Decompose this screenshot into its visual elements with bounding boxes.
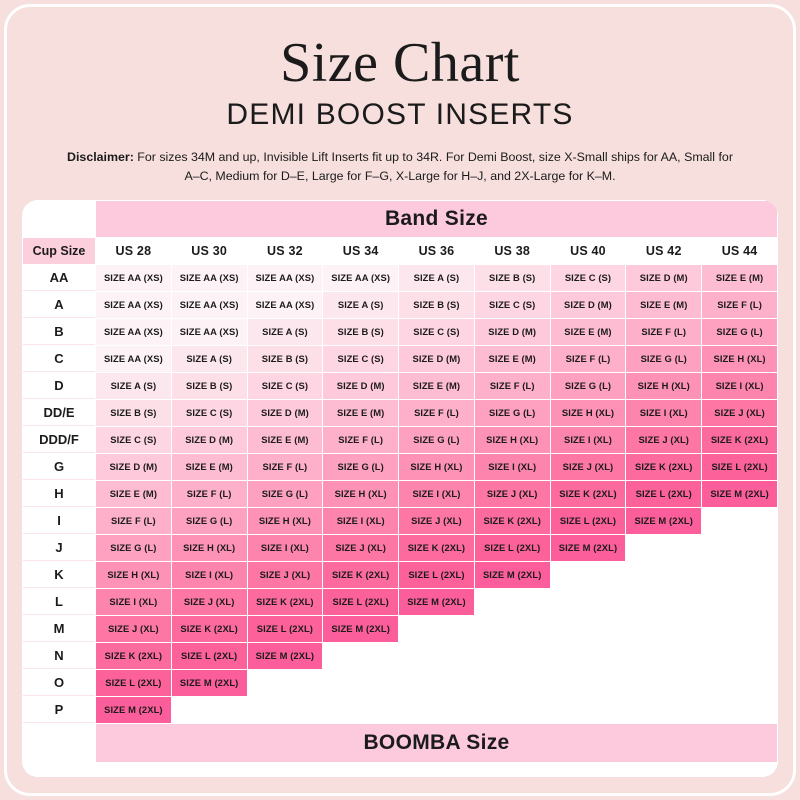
size-cell: SIZE D (M) [172, 427, 247, 453]
size-cell-empty [551, 589, 626, 615]
size-cell-empty [702, 697, 777, 723]
size-cell-empty [475, 589, 550, 615]
size-cell: SIZE C (S) [248, 373, 323, 399]
size-cell-empty [399, 616, 474, 642]
size-cell: SIZE J (XL) [172, 589, 247, 615]
size-cell: SIZE J (XL) [248, 562, 323, 588]
band-size-header: US 44 [702, 238, 777, 264]
size-cell: SIZE C (S) [323, 346, 398, 372]
size-cell: SIZE H (XL) [475, 427, 550, 453]
table-row: ISIZE F (L)SIZE G (L)SIZE H (XL)SIZE I (… [23, 508, 777, 534]
size-cell: SIZE E (M) [172, 454, 247, 480]
size-cell-empty [626, 670, 701, 696]
disclaimer-text: For sizes 34M and up, Invisible Lift Ins… [134, 150, 733, 183]
table-row: DDD/FSIZE C (S)SIZE D (M)SIZE E (M)SIZE … [23, 427, 777, 453]
size-cell: SIZE I (XL) [626, 400, 701, 426]
size-cell: SIZE H (XL) [626, 373, 701, 399]
cup-size-label: H [23, 481, 95, 507]
cup-size-label: N [23, 643, 95, 669]
size-cell-empty [626, 562, 701, 588]
size-cell: SIZE B (S) [475, 265, 550, 291]
band-size-header: US 38 [475, 238, 550, 264]
table-row: OSIZE L (2XL)SIZE M (2XL) [23, 670, 777, 696]
size-cell: SIZE G (L) [399, 427, 474, 453]
size-cell: SIZE D (M) [323, 373, 398, 399]
size-cell: SIZE L (2XL) [475, 535, 550, 561]
band-size-banner: Band Size [96, 201, 777, 237]
card-bottom-padding [22, 763, 778, 777]
size-cell: SIZE L (2XL) [96, 670, 171, 696]
page-subtitle: DEMI BOOST INSERTS [0, 98, 800, 132]
table-row: PSIZE M (2XL) [23, 697, 777, 723]
size-cell-empty [248, 697, 323, 723]
cup-size-label: G [23, 454, 95, 480]
size-cell: SIZE M (2XL) [399, 589, 474, 615]
size-cell: SIZE G (L) [248, 481, 323, 507]
size-cell: SIZE K (2XL) [323, 562, 398, 588]
boomba-spacer [23, 724, 95, 762]
size-cell: SIZE K (2XL) [551, 481, 626, 507]
size-cell: SIZE K (2XL) [399, 535, 474, 561]
size-cell: SIZE AA (XS) [96, 265, 171, 291]
size-cell: SIZE AA (XS) [323, 265, 398, 291]
size-cell-empty [248, 670, 323, 696]
size-cell: SIZE A (S) [323, 292, 398, 318]
size-cell-empty [475, 616, 550, 642]
size-cell: SIZE AA (XS) [96, 346, 171, 372]
size-cell: SIZE B (S) [96, 400, 171, 426]
cup-size-label: DDD/F [23, 427, 95, 453]
size-cell-empty [475, 643, 550, 669]
size-cell-empty [475, 670, 550, 696]
cup-size-label: C [23, 346, 95, 372]
size-cell: SIZE I (XL) [172, 562, 247, 588]
band-size-header: US 40 [551, 238, 626, 264]
cup-size-label: O [23, 670, 95, 696]
size-cell: SIZE AA (XS) [248, 265, 323, 291]
size-cell: SIZE E (M) [551, 319, 626, 345]
size-cell: SIZE G (L) [702, 319, 777, 345]
size-cell-empty [399, 697, 474, 723]
size-cell: SIZE J (XL) [399, 508, 474, 534]
table-foot: BOOMBA Size [23, 724, 777, 762]
size-cell: SIZE B (S) [172, 373, 247, 399]
size-cell: SIZE H (XL) [323, 481, 398, 507]
cup-size-label: B [23, 319, 95, 345]
size-cell: SIZE E (M) [702, 265, 777, 291]
band-size-header: US 36 [399, 238, 474, 264]
size-cell: SIZE K (2XL) [96, 643, 171, 669]
table-row: JSIZE G (L)SIZE H (XL)SIZE I (XL)SIZE J … [23, 535, 777, 561]
size-cell: SIZE M (2XL) [626, 508, 701, 534]
cup-size-label: D [23, 373, 95, 399]
size-cell-empty [626, 535, 701, 561]
size-cell: SIZE G (L) [323, 454, 398, 480]
size-cell: SIZE I (XL) [399, 481, 474, 507]
size-cell-empty [172, 697, 247, 723]
cup-size-label: K [23, 562, 95, 588]
size-cell-empty [323, 643, 398, 669]
size-cell: SIZE G (L) [172, 508, 247, 534]
size-cell: SIZE B (S) [323, 319, 398, 345]
cup-size-label: A [23, 292, 95, 318]
size-cell: SIZE L (2XL) [323, 589, 398, 615]
table-row: NSIZE K (2XL)SIZE L (2XL)SIZE M (2XL) [23, 643, 777, 669]
size-cell: SIZE L (2XL) [551, 508, 626, 534]
size-cell: SIZE M (2XL) [96, 697, 171, 723]
size-cell: SIZE J (XL) [475, 481, 550, 507]
size-cell-empty [702, 616, 777, 642]
size-cell: SIZE E (M) [399, 373, 474, 399]
size-cell-empty [399, 670, 474, 696]
size-cell: SIZE I (XL) [551, 427, 626, 453]
size-cell: SIZE D (M) [399, 346, 474, 372]
size-cell: SIZE C (S) [96, 427, 171, 453]
size-cell: SIZE H (XL) [172, 535, 247, 561]
boomba-size-banner: BOOMBA Size [96, 724, 777, 762]
cup-size-header: Cup Size [23, 238, 95, 264]
size-cell: SIZE K (2XL) [475, 508, 550, 534]
size-cell: SIZE B (S) [399, 292, 474, 318]
table-row: ASIZE AA (XS)SIZE AA (XS)SIZE AA (XS)SIZ… [23, 292, 777, 318]
size-cell: SIZE J (XL) [626, 427, 701, 453]
size-cell: SIZE AA (XS) [96, 319, 171, 345]
size-cell: SIZE G (L) [551, 373, 626, 399]
size-cell: SIZE L (2XL) [702, 454, 777, 480]
size-cell-empty [551, 643, 626, 669]
size-cell: SIZE AA (XS) [248, 292, 323, 318]
size-cell-empty [626, 616, 701, 642]
band-size-header: US 28 [96, 238, 171, 264]
table-row: CSIZE AA (XS)SIZE A (S)SIZE B (S)SIZE C … [23, 346, 777, 372]
cup-size-label: DD/E [23, 400, 95, 426]
size-cell: SIZE AA (XS) [172, 319, 247, 345]
size-cell-empty [323, 670, 398, 696]
disclaimer: Disclaimer: For sizes 34M and up, Invisi… [66, 148, 734, 186]
size-cell-empty [551, 670, 626, 696]
band-size-header: US 30 [172, 238, 247, 264]
size-cell: SIZE E (M) [96, 481, 171, 507]
size-cell: SIZE H (XL) [702, 346, 777, 372]
size-cell: SIZE F (L) [551, 346, 626, 372]
band-banner-row: Band Size [23, 201, 777, 237]
cup-size-label: P [23, 697, 95, 723]
size-cell-empty [323, 697, 398, 723]
size-cell: SIZE AA (XS) [96, 292, 171, 318]
size-cell-empty [551, 697, 626, 723]
size-chart-card: Band Size Cup Size US 28US 30US 32US 34U… [22, 200, 778, 777]
size-cell: SIZE D (M) [551, 292, 626, 318]
column-header-row: Cup Size US 28US 30US 32US 34US 36US 38U… [23, 238, 777, 264]
table-row: AASIZE AA (XS)SIZE AA (XS)SIZE AA (XS)SI… [23, 265, 777, 291]
size-cell-empty [702, 562, 777, 588]
size-cell: SIZE I (XL) [96, 589, 171, 615]
page-header: Size Chart DEMI BOOST INSERTS Disclaimer… [0, 0, 800, 186]
cup-size-label: M [23, 616, 95, 642]
size-cell: SIZE E (M) [248, 427, 323, 453]
size-cell: SIZE H (XL) [248, 508, 323, 534]
banner-spacer [23, 201, 95, 237]
size-cell: SIZE C (S) [172, 400, 247, 426]
size-cell: SIZE I (XL) [702, 373, 777, 399]
size-cell: SIZE M (2XL) [172, 670, 247, 696]
size-cell: SIZE M (2XL) [475, 562, 550, 588]
size-cell: SIZE M (2XL) [551, 535, 626, 561]
size-cell: SIZE K (2XL) [702, 427, 777, 453]
page-title: Size Chart [0, 34, 800, 92]
size-cell: SIZE I (XL) [475, 454, 550, 480]
size-cell: SIZE M (2XL) [248, 643, 323, 669]
size-cell: SIZE E (M) [475, 346, 550, 372]
size-cell: SIZE L (2XL) [626, 481, 701, 507]
cup-size-label: L [23, 589, 95, 615]
size-cell: SIZE H (XL) [399, 454, 474, 480]
size-cell: SIZE J (XL) [96, 616, 171, 642]
size-cell: SIZE AA (XS) [172, 292, 247, 318]
size-cell-empty [475, 697, 550, 723]
size-cell: SIZE K (2XL) [248, 589, 323, 615]
table-head: Band Size Cup Size US 28US 30US 32US 34U… [23, 201, 777, 264]
size-cell: SIZE I (XL) [248, 535, 323, 561]
size-cell: SIZE F (L) [399, 400, 474, 426]
size-cell: SIZE AA (XS) [172, 265, 247, 291]
size-cell: SIZE M (2XL) [702, 481, 777, 507]
size-cell-empty [626, 643, 701, 669]
size-chart-table: Band Size Cup Size US 28US 30US 32US 34U… [22, 200, 778, 763]
size-cell: SIZE A (S) [96, 373, 171, 399]
cup-size-label: I [23, 508, 95, 534]
size-cell-empty [551, 562, 626, 588]
size-cell-empty [702, 670, 777, 696]
size-cell: SIZE E (M) [626, 292, 701, 318]
size-cell-empty [626, 697, 701, 723]
size-cell: SIZE F (L) [172, 481, 247, 507]
size-cell: SIZE J (XL) [323, 535, 398, 561]
size-cell: SIZE A (S) [172, 346, 247, 372]
table-row: LSIZE I (XL)SIZE J (XL)SIZE K (2XL)SIZE … [23, 589, 777, 615]
table-row: DD/ESIZE B (S)SIZE C (S)SIZE D (M)SIZE E… [23, 400, 777, 426]
size-cell-empty [702, 535, 777, 561]
table-row: HSIZE E (M)SIZE F (L)SIZE G (L)SIZE H (X… [23, 481, 777, 507]
size-cell: SIZE G (L) [626, 346, 701, 372]
table-row: BSIZE AA (XS)SIZE AA (XS)SIZE A (S)SIZE … [23, 319, 777, 345]
size-cell: SIZE F (L) [248, 454, 323, 480]
size-cell: SIZE D (M) [475, 319, 550, 345]
size-cell: SIZE E (M) [323, 400, 398, 426]
size-cell-empty [702, 589, 777, 615]
size-cell: SIZE H (XL) [551, 400, 626, 426]
size-cell: SIZE L (2XL) [248, 616, 323, 642]
band-size-header: US 34 [323, 238, 398, 264]
band-size-header: US 42 [626, 238, 701, 264]
size-cell: SIZE D (M) [96, 454, 171, 480]
boomba-banner-row: BOOMBA Size [23, 724, 777, 762]
size-cell: SIZE C (S) [475, 292, 550, 318]
size-cell-empty [399, 643, 474, 669]
size-cell: SIZE F (L) [96, 508, 171, 534]
cup-size-label: J [23, 535, 95, 561]
size-cell: SIZE J (XL) [702, 400, 777, 426]
size-cell: SIZE F (L) [626, 319, 701, 345]
size-cell: SIZE M (2XL) [323, 616, 398, 642]
size-cell: SIZE J (XL) [551, 454, 626, 480]
size-cell: SIZE A (S) [248, 319, 323, 345]
size-cell: SIZE D (M) [626, 265, 701, 291]
size-cell: SIZE F (L) [475, 373, 550, 399]
cup-size-label: AA [23, 265, 95, 291]
table-row: DSIZE A (S)SIZE B (S)SIZE C (S)SIZE D (M… [23, 373, 777, 399]
size-cell: SIZE L (2XL) [399, 562, 474, 588]
size-cell: SIZE L (2XL) [172, 643, 247, 669]
size-cell: SIZE C (S) [551, 265, 626, 291]
size-cell-empty [702, 643, 777, 669]
size-cell: SIZE D (M) [248, 400, 323, 426]
band-size-header: US 32 [248, 238, 323, 264]
table-row: KSIZE H (XL)SIZE I (XL)SIZE J (XL)SIZE K… [23, 562, 777, 588]
size-cell: SIZE C (S) [399, 319, 474, 345]
size-cell: SIZE H (XL) [96, 562, 171, 588]
table-row: MSIZE J (XL)SIZE K (2XL)SIZE L (2XL)SIZE… [23, 616, 777, 642]
size-cell-empty [626, 589, 701, 615]
size-cell: SIZE G (L) [475, 400, 550, 426]
size-cell-empty [551, 616, 626, 642]
size-cell: SIZE I (XL) [323, 508, 398, 534]
size-cell: SIZE G (L) [96, 535, 171, 561]
size-cell-empty [702, 508, 777, 534]
size-chart-page: Size Chart DEMI BOOST INSERTS Disclaimer… [0, 0, 800, 800]
table-row: GSIZE D (M)SIZE E (M)SIZE F (L)SIZE G (L… [23, 454, 777, 480]
size-cell: SIZE F (L) [702, 292, 777, 318]
size-cell: SIZE B (S) [248, 346, 323, 372]
table-body: AASIZE AA (XS)SIZE AA (XS)SIZE AA (XS)SI… [23, 265, 777, 723]
size-cell: SIZE K (2XL) [626, 454, 701, 480]
size-cell: SIZE K (2XL) [172, 616, 247, 642]
disclaimer-label: Disclaimer: [67, 150, 134, 164]
size-cell: SIZE A (S) [399, 265, 474, 291]
size-cell: SIZE F (L) [323, 427, 398, 453]
